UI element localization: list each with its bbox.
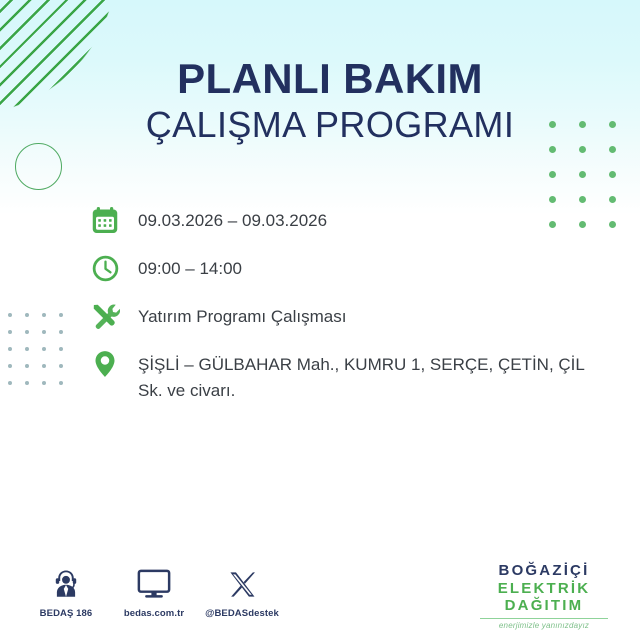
contact-website-label: bedas.com.tr <box>110 608 198 619</box>
dot-grid-decoration-left <box>8 313 76 398</box>
time-range-text: 09:00 – 14:00 <box>138 251 242 282</box>
logo-divider <box>480 618 608 619</box>
call-center-agent-icon <box>22 566 110 602</box>
contact-website[interactable]: bedas.com.tr <box>110 566 198 619</box>
planned-maintenance-poster: PLANLI BAKIM ÇALIŞMA PROGRAMI <box>0 0 640 640</box>
detail-row-address: ŞİŞLİ – GÜLBAHAR Mah., KUMRU 1, SERÇE, Ç… <box>88 347 608 405</box>
contact-x-social[interactable]: @BEDASdestek <box>198 566 286 619</box>
circle-outline-decoration <box>15 143 62 190</box>
title-line-primary: PLANLI BAKIM <box>140 58 520 101</box>
detail-row-time: 09:00 – 14:00 <box>88 251 608 285</box>
contact-x-label: @BEDASdestek <box>198 608 286 619</box>
maintenance-details-list: 09.03.2026 – 09.03.2026 09:00 – 14:00 <box>88 203 608 419</box>
title-line-secondary: ÇALIŞMA PROGRAMI <box>140 107 520 144</box>
poster-title: PLANLI BAKIM ÇALIŞMA PROGRAMI <box>140 58 520 144</box>
work-type-text: Yatırım Programı Çalışması <box>138 299 346 330</box>
logo-line-bogazici: BOĞAZİÇİ <box>470 562 618 580</box>
calendar-icon <box>88 203 122 237</box>
detail-row-date: 09.03.2026 – 09.03.2026 <box>88 203 608 237</box>
detail-row-work-type: Yatırım Programı Çalışması <box>88 299 608 333</box>
bedas-logo: BOĞAZİÇİ ELEKTRİK DAĞITIM enerjimizle ya… <box>470 562 618 630</box>
location-pin-icon <box>88 347 122 381</box>
logo-line-elektrik: ELEKTRİK <box>470 580 618 598</box>
logo-tagline: enerjimizle yanınızdayız <box>470 621 618 630</box>
contact-phone-label: BEDAŞ 186 <box>22 608 110 619</box>
x-twitter-icon <box>198 566 286 602</box>
date-range-text: 09.03.2026 – 09.03.2026 <box>138 203 327 234</box>
poster-footer: BEDAŞ 186 bedas.com.tr <box>0 560 640 640</box>
clock-icon <box>88 251 122 285</box>
tools-icon <box>88 299 122 333</box>
monitor-icon <box>110 566 198 602</box>
address-text: ŞİŞLİ – GÜLBAHAR Mah., KUMRU 1, SERÇE, Ç… <box>138 347 608 405</box>
contact-channels: BEDAŞ 186 bedas.com.tr <box>22 566 286 619</box>
contact-phone[interactable]: BEDAŞ 186 <box>22 566 110 619</box>
logo-line-dagitim: DAĞITIM <box>470 597 618 615</box>
diagonal-stripes-decoration <box>0 0 160 153</box>
